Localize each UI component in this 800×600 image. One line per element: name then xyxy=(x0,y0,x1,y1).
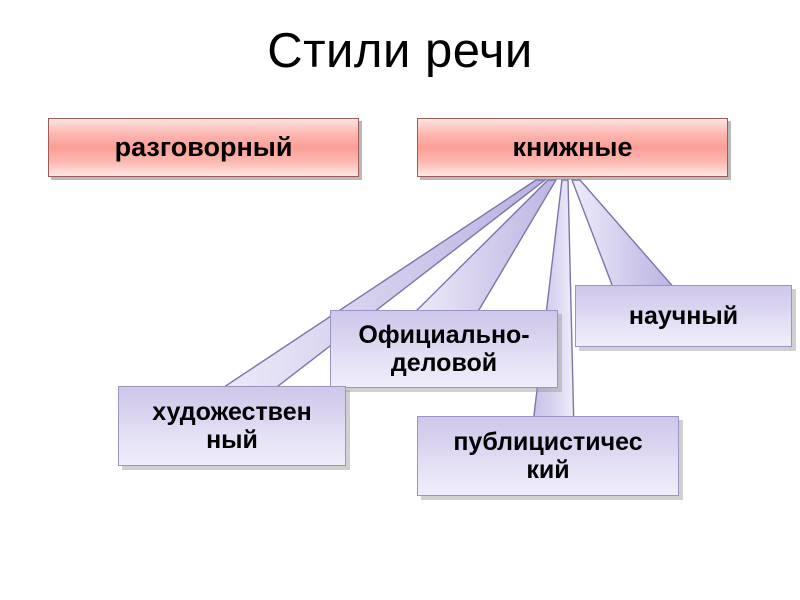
node-razgovorny-label: разговорный xyxy=(49,132,358,162)
connector-knizhnye-publicist xyxy=(532,180,574,432)
node-nauchny-label: научный xyxy=(576,302,791,330)
connector-knizhnye-oficialno xyxy=(402,180,556,325)
page-title: Стили речи xyxy=(0,26,800,77)
connector-knizhnye-nauchny xyxy=(572,180,676,290)
node-knizhnye-label: книжные xyxy=(418,132,727,162)
slide-canvas: Стили речи xyxy=(0,0,800,600)
node-publicisticheskiy-label: публицистичес кий xyxy=(418,428,678,484)
node-hudozhestvenny[interactable]: художествен ный xyxy=(118,386,346,466)
node-oficialno-delovoi-line2: деловой xyxy=(391,349,497,377)
node-hudozhestvenny-line2: ный xyxy=(206,426,258,454)
node-razgovorny[interactable]: разговорный xyxy=(48,118,359,177)
node-publicisticheskiy-line1: публицистичес xyxy=(453,428,642,456)
node-oficialno-delovoi[interactable]: Официально- деловой xyxy=(330,310,558,388)
node-oficialno-delovoi-label: Официально- деловой xyxy=(331,321,557,377)
node-publicisticheskiy-line2: кий xyxy=(526,456,569,484)
node-oficialno-delovoi-line1: Официально- xyxy=(358,321,529,349)
node-hudozhestvenny-line1: художествен xyxy=(152,398,311,426)
node-nauchny[interactable]: научный xyxy=(575,285,792,347)
node-knizhnye[interactable]: книжные xyxy=(417,118,728,177)
node-hudozhestvenny-label: художествен ный xyxy=(119,398,345,454)
node-publicisticheskiy[interactable]: публицистичес кий xyxy=(417,416,679,496)
